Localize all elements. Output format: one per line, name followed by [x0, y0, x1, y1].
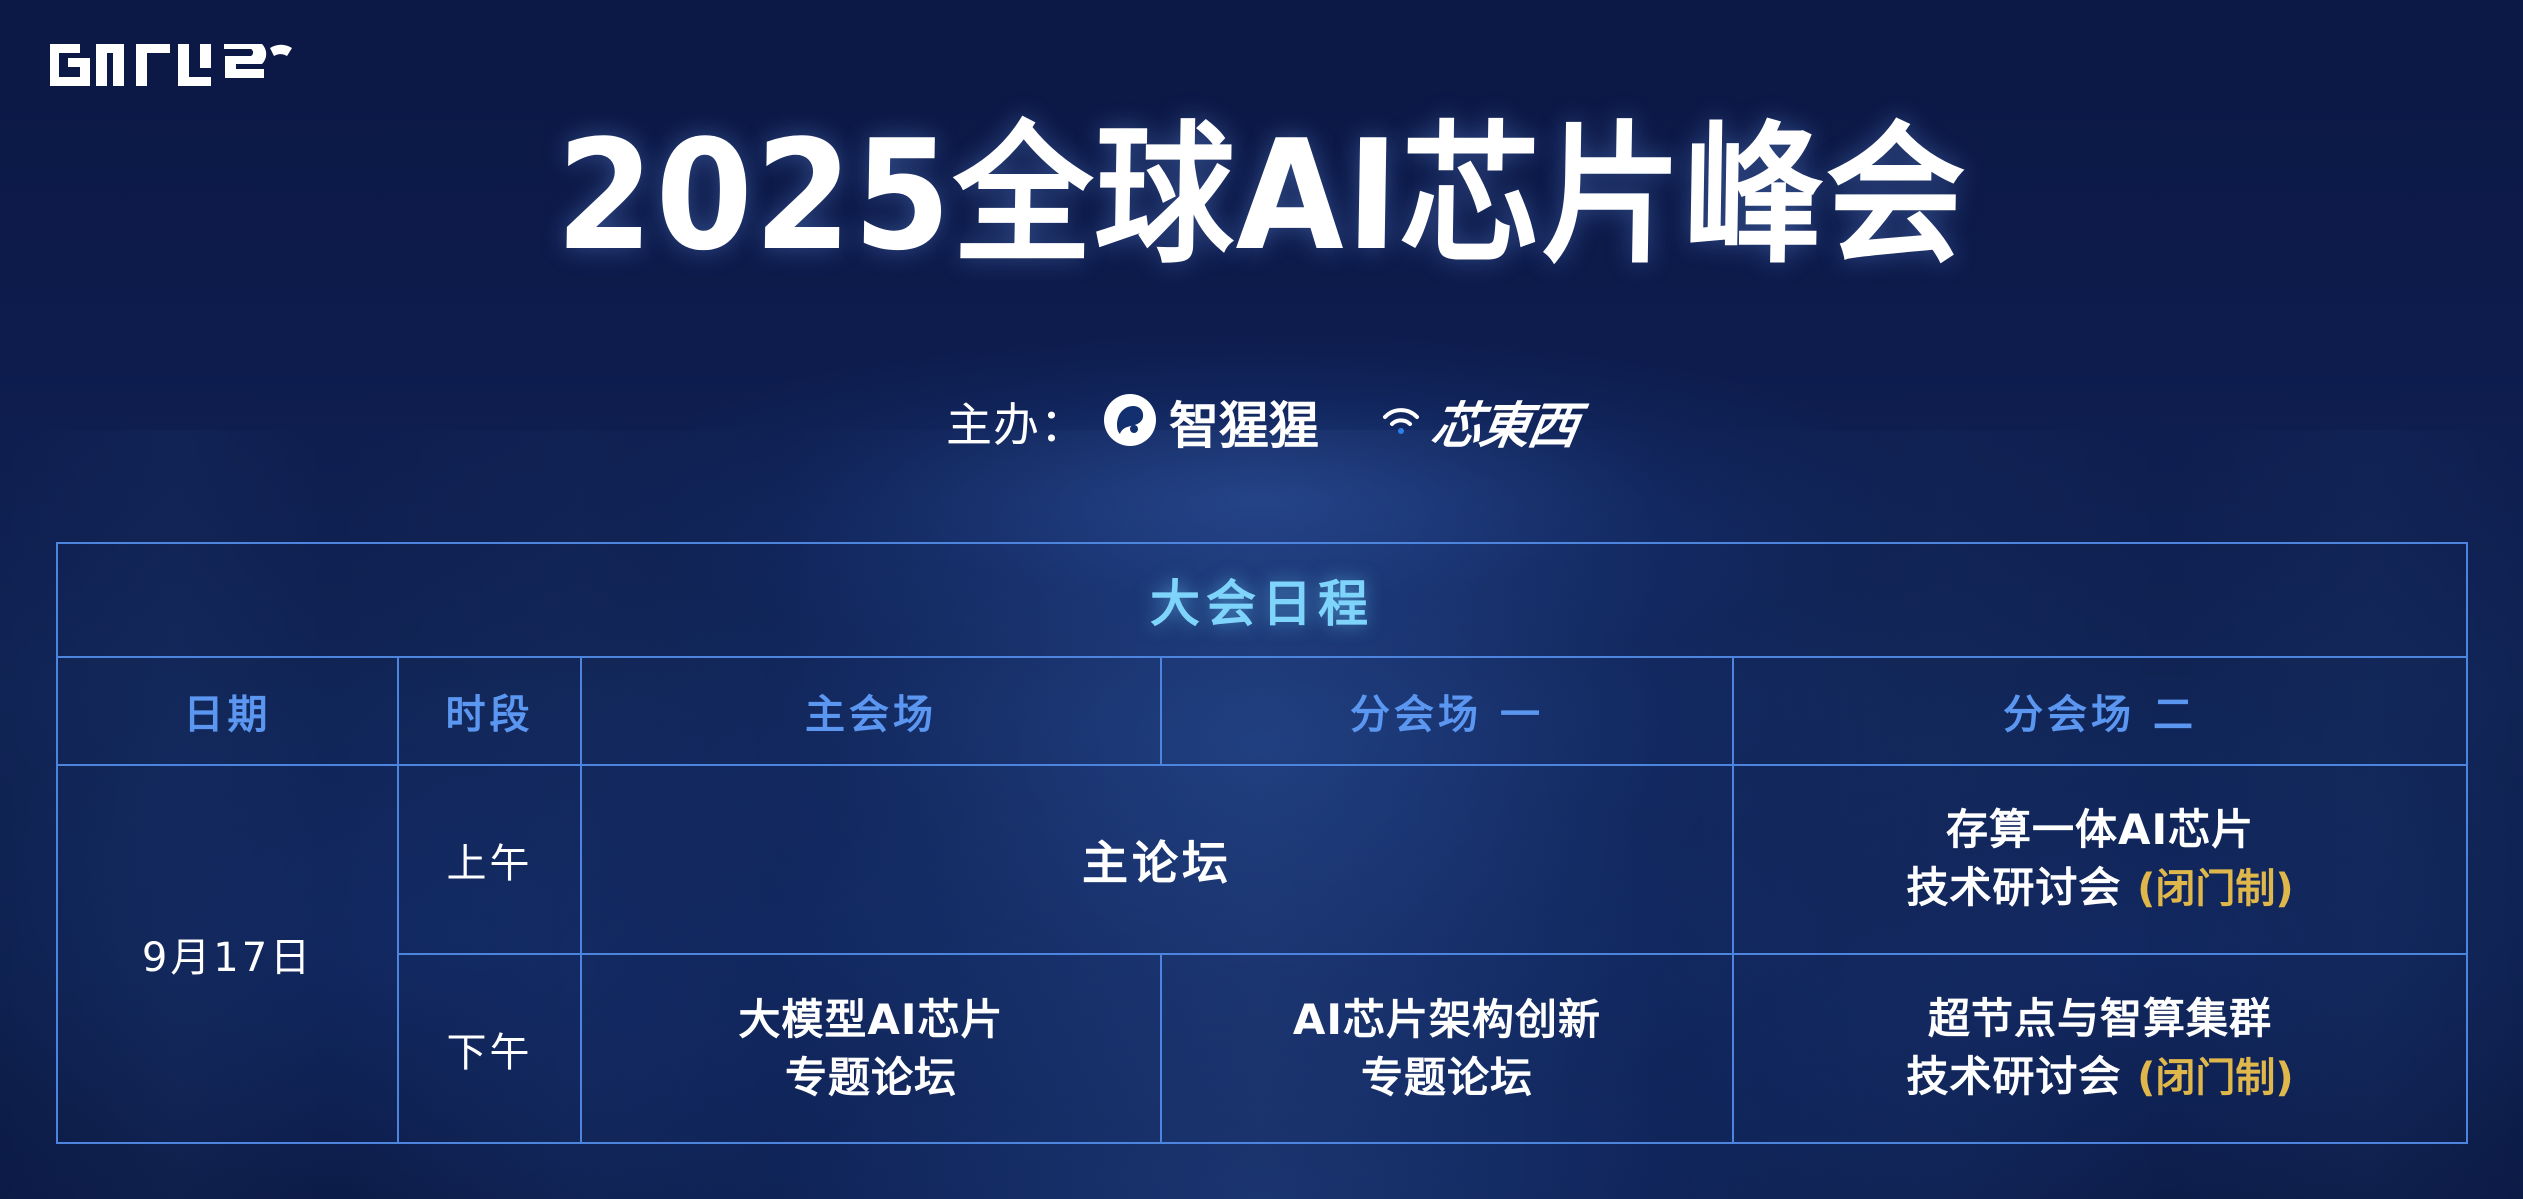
- column-header-sub-venue-2: 分会场 二: [1733, 657, 2467, 765]
- page-title: 2025全球AI芯片峰会: [555, 120, 1968, 272]
- host-line: 主办： 智猩猩 芯東西: [0, 386, 2523, 458]
- session-block: 大模型AI芯片 专题论坛: [582, 991, 1160, 1107]
- column-header-sub-venue-1: 分会场 一: [1161, 657, 1733, 765]
- cell-date: 9月17日: [57, 765, 398, 1143]
- cell-sub-venue-1-afternoon: AI芯片架构创新 专题论坛: [1161, 954, 1733, 1143]
- table-caption-cell: 大会日程: [57, 543, 2467, 657]
- table-header-row: 日期 时段 主会场 分会场 一 分会场 二: [57, 657, 2467, 765]
- main-forum-label: 主论坛: [1082, 836, 1232, 890]
- closed-door-badge: (闭门制): [2137, 866, 2294, 912]
- cell-sub-venue-2-afternoon: 超节点与智算集群 技术研讨会 (闭门制): [1733, 954, 2467, 1143]
- column-header-main-venue-label: 主会场: [805, 692, 937, 738]
- session-block: 超节点与智算集群 技术研讨会 (闭门制): [1734, 990, 2466, 1106]
- host-brand-zhixingxing: 智猩猩: [1103, 386, 1319, 458]
- table-row: 9月17日 上午 主论坛 存算一体AI芯片 技术研讨会 (闭门制): [57, 765, 2467, 954]
- session-title-line-2-text: 技术研讨会: [1906, 1052, 2121, 1101]
- column-header-sub-venue-2-label: 分会场 二: [2003, 692, 2197, 738]
- gacs-logo: [48, 34, 300, 96]
- table-caption-row: 大会日程: [57, 543, 2467, 657]
- cell-main-venue-afternoon: 大模型AI芯片 专题论坛: [581, 954, 1161, 1143]
- column-header-main-venue: 主会场: [581, 657, 1161, 765]
- session-title-line-2: 技术研讨会 (闭门制): [1734, 1048, 2466, 1106]
- session-title-line-1: 超节点与智算集群: [1734, 990, 2466, 1048]
- session-title-line-2-text: 技术研讨会: [1906, 863, 2121, 912]
- period-value: 上午: [447, 841, 533, 887]
- period-value: 下午: [447, 1030, 533, 1076]
- cell-period-afternoon: 下午: [398, 954, 581, 1143]
- host-brand-xindongxi: 芯東西: [1381, 386, 1577, 458]
- session-title-line-2: 专题论坛: [1162, 1049, 1732, 1107]
- column-header-period: 时段: [398, 657, 581, 765]
- title-block: 2025全球AI芯片峰会: [0, 120, 2523, 272]
- session-title-line-1: AI芯片架构创新: [1162, 991, 1732, 1049]
- host-brand-2-label: 芯東西: [1427, 386, 1582, 458]
- schedule-caption: 大会日程: [1150, 575, 1374, 633]
- host-brand-1-label: 智猩猩: [1169, 386, 1319, 458]
- gorilla-icon: [1103, 393, 1157, 452]
- cell-main-forum: 主论坛: [581, 765, 1733, 954]
- cell-sub-venue-2-morning: 存算一体AI芯片 技术研讨会 (闭门制): [1733, 765, 2467, 954]
- column-header-date: 日期: [57, 657, 398, 765]
- wifi-icon: [1381, 405, 1421, 440]
- column-header-period-label: 时段: [446, 692, 534, 738]
- session-block: 存算一体AI芯片 技术研讨会 (闭门制): [1734, 801, 2466, 917]
- session-title-line-1: 大模型AI芯片: [582, 991, 1160, 1049]
- date-value: 9月17日: [142, 935, 313, 981]
- poster-background: 2025全球AI芯片峰会 主办： 智猩猩: [0, 0, 2523, 1199]
- table-row: 下午 大模型AI芯片 专题论坛 AI芯片架构创新 专题论坛 超: [57, 954, 2467, 1143]
- closed-door-badge: (闭门制): [2137, 1055, 2294, 1101]
- session-title-line-1: 存算一体AI芯片: [1734, 801, 2466, 859]
- session-block: AI芯片架构创新 专题论坛: [1162, 991, 1732, 1107]
- column-header-sub-venue-1-label: 分会场 一: [1350, 692, 1544, 738]
- host-label: 主办：: [946, 389, 1087, 455]
- session-title-line-2: 技术研讨会 (闭门制): [1734, 859, 2466, 917]
- cell-period-morning: 上午: [398, 765, 581, 954]
- schedule-table: 大会日程 日期 时段 主会场 分会场 一 分会场 二: [56, 542, 2468, 1144]
- column-header-date-label: 日期: [184, 692, 272, 738]
- session-title-line-2: 专题论坛: [582, 1049, 1160, 1107]
